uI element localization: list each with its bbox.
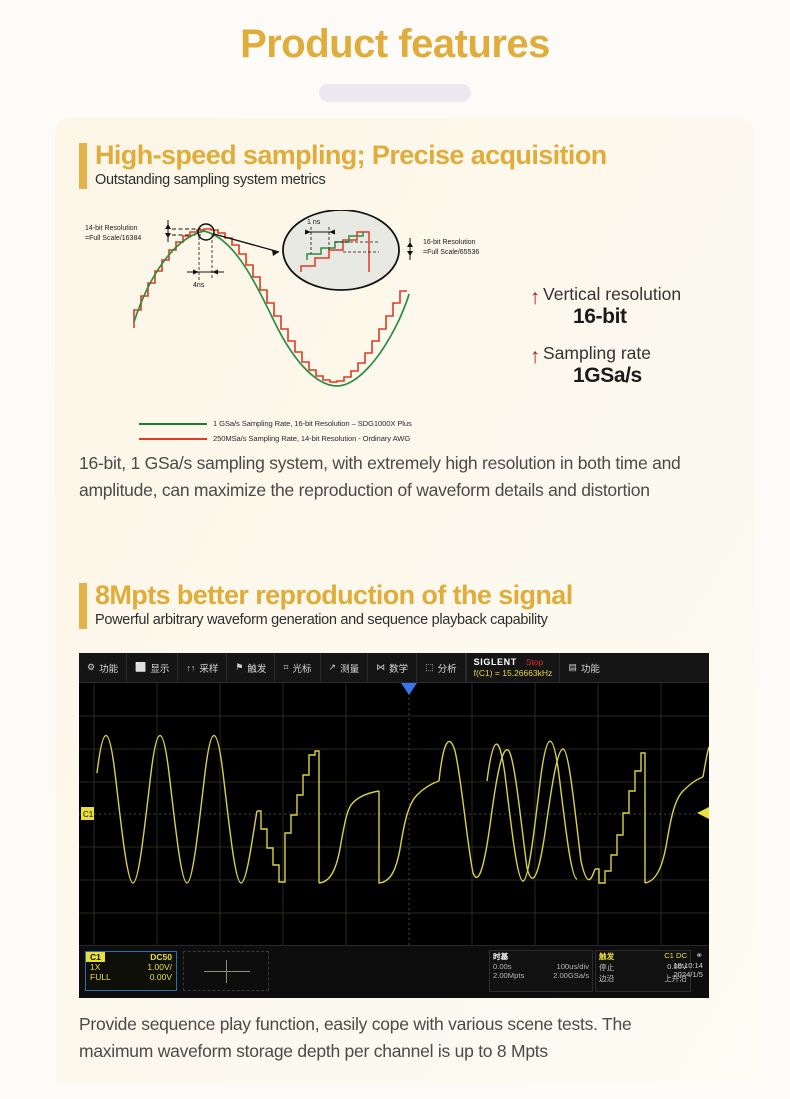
network-icon: ⚭ — [644, 950, 703, 961]
monitor-icon: ⬜ — [135, 662, 146, 673]
flag-icon: ⚑ — [235, 662, 243, 673]
resolution-diagram-svg: 14-bit Resolution =Full Scale/16384 — [79, 210, 489, 440]
oscilloscope-screenshot: ⚙ 功能 ⬜ 显示 ↑↑ 采样 ⚑ 触发 ⌗ 光标 — [79, 653, 709, 998]
up-arrow-icon: ↑ — [527, 343, 543, 367]
scope-menu-item-acquire[interactable]: ↑↑ 采样 — [178, 653, 227, 682]
feature-1-subtitle: Outstanding sampling system metrics — [95, 172, 739, 188]
spec-value-vertical-resolution: 16-bit — [543, 304, 755, 329]
channel-coupling: DC50 — [146, 952, 176, 962]
scope-menu-label: 测量 — [340, 661, 359, 675]
analyze-icon: ⬚ — [425, 662, 434, 673]
scope-menu-item-cursor[interactable]: ⌗ 光标 — [275, 653, 320, 682]
scope-menu-label: 光标 — [293, 661, 312, 675]
scope-waveform-area[interactable]: C1 — [79, 683, 709, 945]
legend-item: 250MSa/s Sampling Rate, 14-bit Resolutio… — [139, 432, 539, 445]
scope-menu-item-display[interactable]: ⬜ 显示 — [127, 653, 178, 682]
timebase-scale: 100us/div — [556, 962, 589, 971]
clock-date: 2024/1/5 — [644, 970, 703, 979]
trigger-title: 触发 — [599, 951, 614, 962]
timebase-delay: 0.00s — [493, 962, 512, 971]
label-14bit-line2: =Full Scale/16384 — [85, 235, 141, 242]
scope-menu-item-measure[interactable]: ↗ 测量 — [321, 653, 369, 682]
feature-2-title: 8Mpts better reproduction of the signal — [95, 580, 739, 611]
label-4ns: 4ns — [193, 282, 205, 289]
legend-swatch-red — [139, 438, 207, 440]
measure-icon: ↗ — [329, 662, 337, 673]
scope-menu-item-trigger[interactable]: ⚑ 触发 — [227, 653, 275, 682]
channel-scale: 1.00V/ — [147, 962, 172, 972]
clock-panel: ⚭ 18:10:14 2024/1/5 — [644, 950, 706, 994]
scope-status-panel: SIGLENT Stop f(C1) = 15.26663kHz — [466, 653, 561, 682]
cursor-icon: ⌗ — [283, 662, 288, 673]
scope-menu-bar: ⚙ 功能 ⬜ 显示 ↑↑ 采样 ⚑ 触发 ⌗ 光标 — [79, 653, 709, 683]
run-state-badge: Stop — [526, 657, 544, 667]
heading-accent-bar — [79, 143, 87, 189]
feature-2-subtitle: Powerful arbitrary waveform generation a… — [95, 612, 739, 628]
diagram-legend: 1 GSa/s Sampling Rate, 16-bit Resolution… — [139, 417, 539, 445]
spec-callouts: ↑ Vertical resolution 16-bit ↑ Sampling … — [527, 284, 755, 403]
heading-accent-bar — [79, 583, 87, 629]
feature-1-title: High-speed sampling; Precise acquisition — [95, 140, 739, 171]
scope-menu-label: 分析 — [438, 661, 457, 675]
scope-waveform-svg: C1 — [79, 683, 709, 945]
gear-icon: ⚙ — [87, 662, 95, 673]
timebase-depth: 2.00Mpts — [493, 971, 524, 980]
spec-label-vertical-resolution: Vertical resolution — [543, 284, 755, 304]
feature-2-paragraph: Provide sequence play function, easily c… — [79, 1011, 709, 1064]
features-card: High-speed sampling; Precise acquisition… — [55, 118, 755, 1083]
divider-pill — [319, 84, 471, 102]
scope-menu-label: 数学 — [389, 661, 408, 675]
resolution-diagram: 14-bit Resolution =Full Scale/16384 — [79, 210, 489, 440]
channel-probe: 1X — [90, 962, 100, 972]
legend-item: 1 GSa/s Sampling Rate, 16-bit Resolution… — [139, 417, 539, 430]
scope-menu-item-function[interactable]: ⚙ 功能 — [79, 653, 127, 682]
brand-logo: SIGLENT — [474, 657, 517, 667]
up-arrow-icon: ↑ — [527, 284, 543, 308]
scope-menu-item-utility[interactable]: ▤ 功能 — [560, 653, 608, 682]
spec-sampling-rate: ↑ Sampling rate 1GSa/s — [527, 343, 755, 388]
timebase-title: 时基 — [490, 951, 592, 962]
label-1ns: 1 ns — [307, 219, 321, 226]
feature-1-paragraph: 16-bit, 1 GSa/s sampling system, with ex… — [79, 450, 709, 503]
legend-label-16bit: 1 GSa/s Sampling Rate, 16-bit Resolution… — [213, 419, 412, 428]
label-16bit-line1: 16-bit Resolution — [423, 239, 476, 246]
empty-channel-slot[interactable] — [183, 951, 269, 991]
spec-label-sampling-rate: Sampling rate — [543, 343, 755, 363]
channel-offset: 0.00V — [150, 972, 172, 982]
scope-menu-item-math[interactable]: ⋈ 数学 — [368, 653, 417, 682]
scope-menu-label: 显示 — [150, 661, 169, 675]
spec-value-sampling-rate: 1GSa/s — [543, 363, 755, 388]
utility-icon: ▤ — [568, 662, 577, 673]
label-14bit-line1: 14-bit Resolution — [85, 225, 138, 232]
channel-name-badge: C1 — [86, 952, 105, 962]
clock-time: 18:10:14 — [644, 961, 703, 970]
page-title: Product features — [0, 0, 790, 66]
timebase-panel[interactable]: 时基 0.00s 100us/div 2.00Mpts 2.00GSa/s — [489, 950, 593, 992]
trigger-type: 边沿 — [599, 973, 614, 984]
scope-menu-label: 功能 — [99, 661, 118, 675]
spec-vertical-resolution: ↑ Vertical resolution 16-bit — [527, 284, 755, 329]
scope-menu-label: 采样 — [199, 661, 218, 675]
page-root: Product features High-speed sampling; Pr… — [0, 0, 790, 1099]
timebase-sample-rate: 2.00GSa/s — [553, 971, 589, 980]
svg-text:C1: C1 — [83, 810, 94, 819]
feature-2-heading: 8Mpts better reproduction of the signal … — [79, 580, 739, 628]
frequency-readout: f(C1) = 15.26663kHz — [474, 668, 553, 678]
scope-menu-item-analyze[interactable]: ⬚ 分析 — [417, 653, 466, 682]
label-16bit-line2: =Full Scale/65536 — [423, 249, 479, 256]
scope-menu-label: 触发 — [247, 661, 266, 675]
trigger-state: 停止 — [599, 962, 614, 973]
legend-swatch-green — [139, 423, 207, 425]
acquire-icon: ↑↑ — [186, 663, 195, 673]
channel-1-panel[interactable]: C1 DC50 1X 1.00V/ FULL 0.00V — [85, 951, 177, 991]
feature-1-heading: High-speed sampling; Precise acquisition… — [79, 140, 739, 188]
channel-bandwidth: FULL — [90, 972, 111, 982]
scope-menu-label: 功能 — [581, 661, 600, 675]
math-icon: ⋈ — [376, 662, 385, 673]
legend-label-14bit: 250MSa/s Sampling Rate, 14-bit Resolutio… — [213, 434, 410, 443]
scope-status-bar: C1 DC50 1X 1.00V/ FULL 0.00V 时基 — [79, 945, 709, 998]
